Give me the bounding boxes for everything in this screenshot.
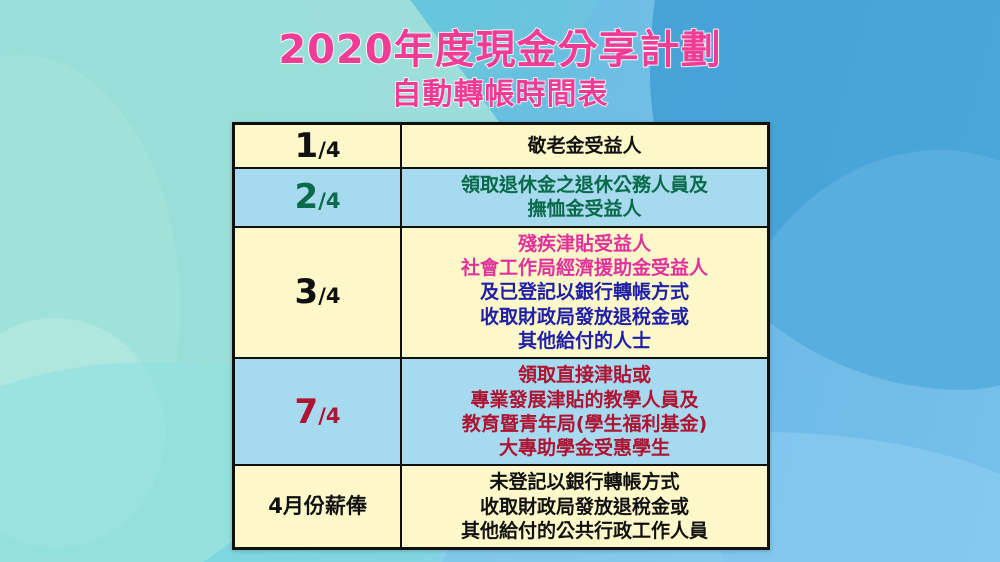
description-text: 敬老金受益人 bbox=[408, 134, 761, 158]
description-line: 其他給付的公共行政工作人員 bbox=[408, 519, 761, 543]
description-text: 領取直接津貼或專業發展津貼的教學人員及教育暨青年局(學生福利基金)大專助學金受惠… bbox=[408, 363, 761, 460]
description-line: 領取直接津貼或 bbox=[408, 363, 761, 387]
description-text: 殘疾津貼受益人社會工作局經濟援助金受益人及已登記以銀行轉帳方式收取財政局發放退稅… bbox=[408, 232, 761, 354]
description-line: 敬老金受益人 bbox=[408, 134, 761, 158]
description-line: 殘疾津貼受益人 bbox=[408, 232, 761, 256]
title-block: 2020年度現金分享計劃 自動轉帳時間表 bbox=[0, 28, 1000, 114]
schedule-date-cell: 1/4 bbox=[234, 124, 402, 169]
description-line: 未登記以銀行轉帳方式 bbox=[408, 470, 761, 494]
description-line: 專業發展津貼的教學人員及 bbox=[408, 388, 761, 412]
description-line: 社會工作局經濟援助金受益人 bbox=[408, 256, 761, 280]
schedule-date-cell: 2/4 bbox=[234, 168, 402, 227]
date-month-number: /4 bbox=[318, 189, 340, 213]
schedule-description-cell: 領取直接津貼或專業發展津貼的教學人員及教育暨青年局(學生福利基金)大專助學金受惠… bbox=[401, 358, 768, 465]
table-row: 7/4領取直接津貼或專業發展津貼的教學人員及教育暨青年局(學生福利基金)大專助學… bbox=[234, 358, 769, 465]
description-line: 撫恤金受益人 bbox=[408, 197, 761, 221]
table-row: 2/4領取退休金之退休公務人員及撫恤金受益人 bbox=[234, 168, 769, 227]
description-line: 領取退休金之退休公務人員及 bbox=[408, 173, 761, 197]
date-fraction: 7/4 bbox=[295, 395, 341, 429]
description-text: 領取退休金之退休公務人員及撫恤金受益人 bbox=[408, 173, 761, 222]
page-title: 2020年度現金分享計劃 bbox=[0, 28, 1000, 72]
auto-transfer-schedule-table: 1/4敬老金受益人2/4領取退休金之退休公務人員及撫恤金受益人3/4殘疾津貼受益… bbox=[232, 122, 770, 550]
schedule-description-cell: 殘疾津貼受益人社會工作局經濟援助金受益人及已登記以銀行轉帳方式收取財政局發放退稅… bbox=[401, 227, 768, 359]
description-line: 及已登記以銀行轉帳方式 bbox=[408, 280, 761, 304]
description-line: 其他給付的人士 bbox=[408, 329, 761, 353]
schedule-description-cell: 敬老金受益人 bbox=[401, 124, 768, 169]
date-day-number: 1 bbox=[295, 126, 319, 166]
table-row: 4月份薪俸未登記以銀行轉帳方式收取財政局發放退稅金或其他給付的公共行政工作人員 bbox=[234, 465, 769, 548]
page-subtitle: 自動轉帳時間表 bbox=[0, 76, 1000, 114]
description-line: 收取財政局發放退稅金或 bbox=[408, 305, 761, 329]
date-day-number: 7 bbox=[295, 392, 319, 432]
date-fraction: 3/4 bbox=[295, 275, 341, 309]
date-month-number: /4 bbox=[318, 404, 340, 428]
description-text: 未登記以銀行轉帳方式收取財政局發放退稅金或其他給付的公共行政工作人員 bbox=[408, 470, 761, 543]
date-month-number: /4 bbox=[318, 138, 340, 162]
date-day-number: 2 bbox=[295, 177, 319, 217]
schedule-date-cell: 7/4 bbox=[234, 358, 402, 465]
schedule-date-cell: 3/4 bbox=[234, 227, 402, 359]
description-line: 收取財政局發放退稅金或 bbox=[408, 495, 761, 519]
date-month-number: /4 bbox=[318, 284, 340, 308]
table-row: 1/4敬老金受益人 bbox=[234, 124, 769, 169]
schedule-description-cell: 領取退休金之退休公務人員及撫恤金受益人 bbox=[401, 168, 768, 227]
date-label: 4月份薪俸 bbox=[268, 494, 367, 518]
description-line: 教育暨青年局(學生福利基金) bbox=[408, 412, 761, 436]
table-body: 1/4敬老金受益人2/4領取退休金之退休公務人員及撫恤金受益人3/4殘疾津貼受益… bbox=[234, 124, 769, 549]
schedule-description-cell: 未登記以銀行轉帳方式收取財政局發放退稅金或其他給付的公共行政工作人員 bbox=[401, 465, 768, 548]
date-fraction: 1/4 bbox=[295, 129, 341, 163]
poster-canvas: 2020年度現金分享計劃 自動轉帳時間表 1/4敬老金受益人2/4領取退休金之退… bbox=[0, 0, 1000, 562]
schedule-date-cell: 4月份薪俸 bbox=[234, 465, 402, 548]
description-line: 大專助學金受惠學生 bbox=[408, 436, 761, 460]
date-day-number: 3 bbox=[295, 272, 319, 312]
date-fraction: 2/4 bbox=[295, 180, 341, 214]
table-row: 3/4殘疾津貼受益人社會工作局經濟援助金受益人及已登記以銀行轉帳方式收取財政局發… bbox=[234, 227, 769, 359]
